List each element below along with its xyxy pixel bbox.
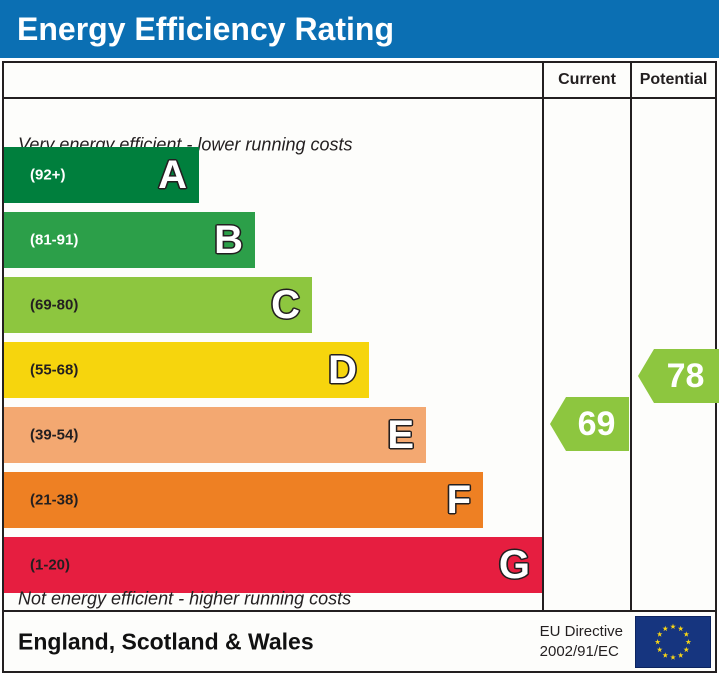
bands-area: Very energy efficient - lower running co… [4,99,542,610]
band-range-f: (21-38) [30,492,78,509]
band-range-a: (92+) [30,167,65,184]
band-letter-c: C [271,285,300,325]
column-divider-potential [630,99,632,610]
current-rating-arrow: 69 [550,397,629,451]
band-letter-d: D [328,350,357,390]
band-row-a: (92+) A [4,147,199,203]
band-range-d: (55-68) [30,362,78,379]
band-range-e: (39-54) [30,427,78,444]
band-row-f: (21-38) F [4,472,483,528]
chart-footer: England, Scotland & Wales EU Directive 2… [4,610,715,671]
page-title: Energy Efficiency Rating [17,7,394,51]
band-letter-f: F [447,480,471,520]
band-row-b: (81-91) B [4,212,255,268]
band-row-g: (1-20) G [4,537,542,593]
potential-rating-arrow: 78 [638,349,719,403]
band-letter-e: E [387,415,414,455]
current-rating-value: 69 [578,405,616,444]
column-divider-current [542,99,544,610]
efficiency-note-bottom: Not energy efficient - higher running co… [18,589,351,610]
band-letter-g: G [499,545,530,585]
footer-region-label: England, Scotland & Wales [18,628,314,655]
band-row-d: (55-68) D [4,342,369,398]
eu-directive-line1: EU Directive [540,622,623,642]
band-row-e: (39-54) E [4,407,426,463]
band-letter-a: A [158,155,187,195]
band-range-g: (1-20) [30,557,70,574]
column-header-potential: Potential [630,63,715,97]
chart-frame: Current Potential Very energy efficient … [2,61,717,673]
band-range-b: (81-91) [30,232,78,249]
band-letter-b: B [214,220,243,260]
eu-directive-text: EU Directive 2002/91/EC [540,622,623,662]
band-row-c: (69-80) C [4,277,312,333]
band-range-c: (69-80) [30,297,78,314]
eu-directive-line2: 2002/91/EC [540,642,623,662]
potential-rating-value: 78 [667,357,705,396]
column-header-row: Current Potential [4,63,715,99]
column-header-current: Current [542,63,630,97]
eu-flag-icon [635,616,711,668]
energy-efficiency-rating-chart: Energy Efficiency Rating Current Potenti… [0,0,719,675]
chart-header-banner: Energy Efficiency Rating [0,0,719,58]
